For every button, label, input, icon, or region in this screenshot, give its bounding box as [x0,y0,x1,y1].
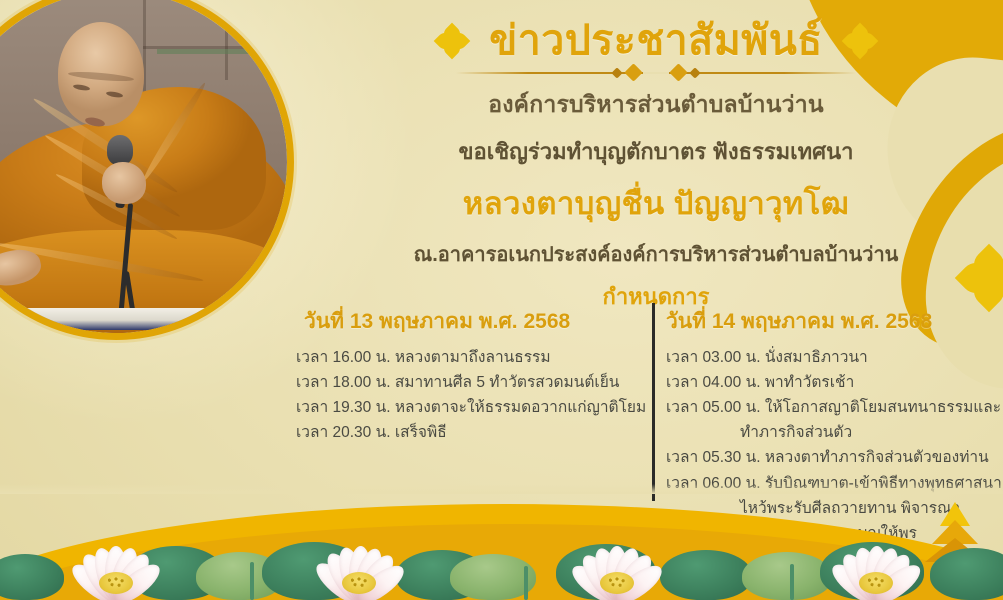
lotus-leaf [0,554,64,600]
schedule-item: เวลา 18.00 น. สมาทานศีล 5 ทำวัตรสวดมนต์เ… [296,370,626,395]
schedule-item-text: เวลา 03.00 น. นั่งสมาธิภาวนา [666,349,868,366]
lotus-flower [556,524,678,600]
wall-seam [225,0,228,80]
schedule-item: เวลา 04.00 น. พาทำวัตรเช้า [666,370,988,395]
poster-header: ข่าวประชาสัมพันธ์ องค์การบริหารส่วนตำบลบ… [318,18,994,314]
schedule-item-continuation: ทำภารกิจส่วนตัว [666,420,988,445]
microphone-head [107,135,133,165]
date-heading-day1: วันที่ 13 พฤษภาคม พ.ศ. 2568 [296,305,626,338]
date-heading-day2: วันที่ 14 พฤษภาคม พ.ศ. 2568 [666,305,988,338]
lotus-decoration-band [0,488,1003,600]
seat-cushion [0,308,239,330]
quatrefoil-ornament-icon [845,26,875,56]
monk-portrait-photo [0,0,287,333]
monk-portrait-frame [0,0,294,340]
divider-gem-icon [624,64,642,82]
lotus-stem [790,564,794,600]
lotus-flower [300,530,418,600]
lotus-seed-pod [600,572,634,594]
lotus-flower [56,526,176,600]
page-title: ข่าวประชาสัมพันธ์ [489,18,823,64]
schedule-item-text: เวลา 04.00 น. พาทำวัตรเช้า [666,374,854,391]
organization-name: องค์การบริหารส่วนตำบลบ้านว่าน [318,87,994,123]
venue-line: ณ.อาคารอเนกประสงค์องค์การบริหารส่วนตำบลบ… [318,238,994,270]
schedule-item: เวลา 05.30 น. หลวงตาทำภารกิจส่วนตัวของท่… [666,445,988,470]
lotus-flower [816,526,936,600]
schedule-list-day1: เวลา 16.00 น. หลวงตามาถึงลานธรรม เวลา 18… [296,345,626,445]
lotus-stem [250,562,254,600]
lotus-leaf [930,548,1003,600]
wall-accent-line [157,49,273,54]
lotus-stem [524,566,528,600]
announcement-poster: ข่าวประชาสัมพันธ์ องค์การบริหารส่วนตำบลบ… [0,0,1003,600]
schedule-item-text: เวลา 05.30 น. หลวงตาทำภารกิจส่วนตัวของท่… [666,449,989,466]
divider-gem-icon [689,67,700,78]
divider-gem-icon [669,64,687,82]
schedule-item: เวลา 19.30 น. หลวงตาจะให้ธรรมดอวากแก่ญาต… [296,395,626,420]
quatrefoil-ornament-icon [437,26,467,56]
monk-hand-holding-microphone [102,162,146,204]
schedule-item: เวลา 20.30 น. เสร็จพิธี [296,420,626,445]
title-row: ข่าวประชาสัมพันธ์ [318,18,994,64]
ornate-divider [456,66,856,80]
lotus-seed-pod [99,572,133,594]
lotus-seed-pod [342,572,376,594]
schedule-item: เวลา 05.00 น. ให้โอกาสญาติโยมสนทนาธรรมแล… [666,395,988,445]
schedule-item-text: เวลา 05.00 น. ให้โอกาสญาติโยมสนทนาธรรมแล… [666,399,1001,416]
edge-quatrefoil-ornament-icon [961,250,1003,306]
invitation-line: ขอเชิญร่วมทำบุญตักบาตร ฟังธรรมเทศนา [318,134,994,169]
schedule-item: เวลา 03.00 น. นั่งสมาธิภาวนา [666,345,988,370]
lotus-seed-pod [859,572,893,594]
divider-gem-icon [611,67,622,78]
schedule-item: เวลา 16.00 น. หลวงตามาถึงลานธรรม [296,345,626,370]
monk-name: หลวงตาบุญชื่น ปัญญาวุทโฒ [318,178,994,228]
divider-gap [643,72,669,74]
